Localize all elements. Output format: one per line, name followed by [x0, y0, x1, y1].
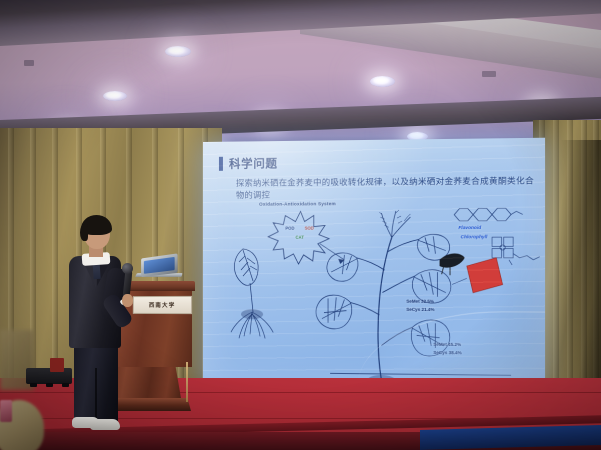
- ceiling-vent-icon: [482, 71, 496, 77]
- diagram-label-chlorophyll: Chlorophyll: [460, 234, 487, 239]
- ceiling-vent-icon: [24, 60, 34, 66]
- diagram-burst-label-cat: CAT: [295, 235, 303, 240]
- slide-diagram: Oxidation-Antioxidation System POD SOD C…: [203, 202, 545, 393]
- diagram-illustration: [203, 202, 545, 393]
- downlight-icon: [165, 46, 191, 57]
- diagram-system-label: Oxidation-Antioxidation System: [259, 201, 336, 207]
- right-wall-shadow: [560, 140, 601, 390]
- speaker-figure: [60, 218, 146, 438]
- stage-equipment-case: [26, 368, 72, 384]
- speaker-hair-side: [80, 224, 88, 241]
- speaker-leg-seam: [95, 368, 97, 420]
- speaker-hand: [122, 294, 133, 307]
- podium-nameplate-text: 西南大学: [149, 301, 175, 309]
- diagram-root-secys: SeCys 38.4%: [433, 350, 461, 355]
- diagram-burst-label-pod: POD: [285, 226, 294, 231]
- stage-equipment-red-box: [50, 358, 64, 372]
- slide-title: 科学问题: [229, 155, 278, 172]
- equipment-foot: [62, 383, 69, 387]
- equipment-foot: [46, 383, 53, 387]
- diagram-burst-label-sod: SOD: [305, 226, 314, 231]
- speaker-shoe-right: [90, 419, 120, 430]
- projection-screen: 科学问题 探索纳米硒在金荞麦中的吸收转化规律，以及纳米硒对金荞麦合成黄酮类化合物…: [203, 138, 545, 394]
- slide-title-group: 科学问题: [219, 155, 278, 172]
- slide-body-text: 探索纳米硒在金荞麦中的吸收转化规律，以及纳米硒对金荞麦合成黄酮类化合物的调控: [236, 175, 536, 202]
- downlight-icon: [103, 91, 127, 101]
- foreground-phone: [0, 400, 12, 422]
- laptop-screen-glow: [144, 257, 175, 274]
- podium-gold-trim: [186, 362, 188, 402]
- microphone-head-icon: [122, 263, 133, 274]
- diagram-root-semet: SeMet 45.2%: [433, 342, 461, 347]
- diagram-plant-secys: SeCys 21.4%: [406, 307, 434, 312]
- equipment-foot: [30, 383, 37, 387]
- diagram-plant-semet: SeMet 32.5%: [406, 299, 434, 304]
- presentation-scene-photo: 科学问题 探索纳米硒在金荞麦中的吸收转化规律，以及纳米硒对金荞麦合成黄酮类化合物…: [0, 0, 601, 450]
- downlight-icon: [370, 76, 395, 87]
- diagram-label-flavonoid: Flavonoid: [458, 225, 481, 230]
- slide-title-accent-bar: [219, 157, 223, 171]
